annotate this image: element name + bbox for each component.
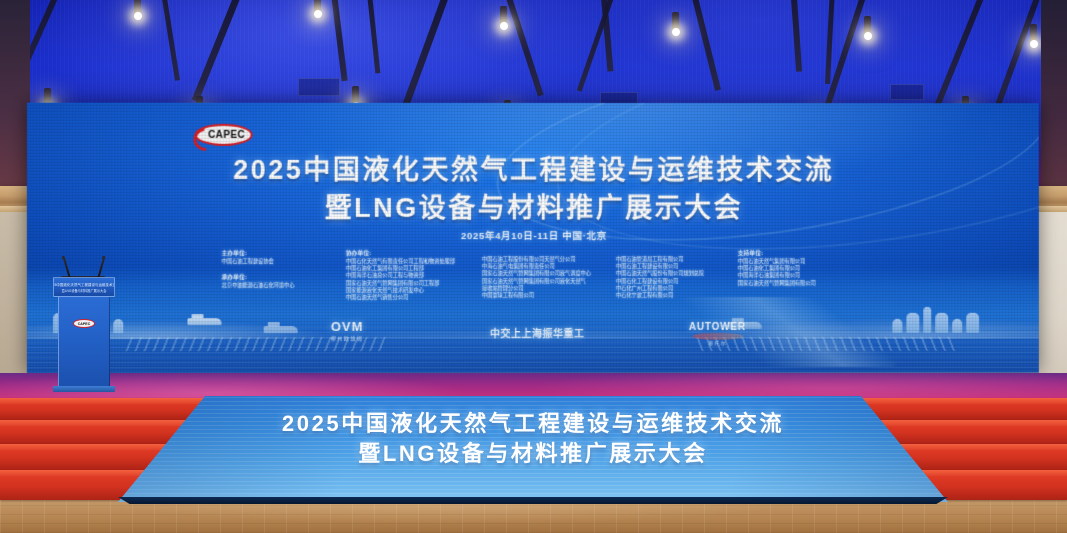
co-host-item: 中国海洋石油总公司工程与物资部 [346, 273, 466, 280]
capec-logo: CAPEC [194, 123, 254, 147]
podium-body: CAPEC [58, 297, 110, 389]
podium-banner-line2: 暨LNG设备与材料推广展示大会 [62, 288, 107, 293]
ovm-logo-subtext: 柳州欧维姆 [331, 335, 364, 342]
speaker-podium[interactable]: 2025中国液化天然气工程建设与运维技术交流 暨LNG设备与材料推广展示大会 C… [53, 277, 115, 389]
floor-title-line1: 2025中国液化天然气工程建设与运维技术交流 [118, 410, 948, 437]
undertaker-name: 北京中油能源石油石化环境中心 [222, 283, 330, 290]
capec-logo-oval: CAPEC [195, 124, 253, 146]
host-label: 主办单位: [222, 249, 330, 257]
spotlight [134, 0, 141, 16]
supporter-label: 支持单位: [738, 249, 846, 257]
organizer-item: 中石化广州工程有限公司 [616, 286, 722, 293]
organizer-item: 中国寰球工程有限公司 [482, 293, 600, 300]
spacer-head [616, 249, 722, 255]
podium-banner-line1: 2025中国液化天然气工程建设与运维技术交流 [53, 282, 115, 287]
organizer-column-4: 中国石油管道局工程有限公司 中国石油工程建设有限公司 中国石油天然气股份有限公司… [616, 249, 722, 325]
organizer-item: 国家石油天然气管网集团有限公司液化天然气 [482, 279, 600, 286]
sponsor-logo-row: OVM 柳州欧维姆 中交上上海振华重工 AUTOWER 奥托尔 [27, 319, 1039, 353]
floor-title-line2: 暨LNG设备与材料推广展示大会 [118, 440, 948, 467]
zhenhua-logo-text: 中交上上海振华重工 [490, 325, 584, 340]
organizer-column-supporters: 支持单位: 中国石油天然气集团有限公司 中国石油化工集团有限公司 中国海洋石油集… [738, 249, 846, 325]
step [852, 398, 1067, 420]
autower-logo-subtext: 奥托尔 [689, 340, 746, 347]
sponsor-logo-autower: AUTOWER 奥托尔 [689, 322, 746, 347]
organizer-item: 中石化宁波工程有限公司 [616, 293, 722, 300]
organizer-item: 接收站管理分公司 [482, 286, 600, 293]
supporter-item: 国家石油天然气管网集团有限公司 [738, 281, 846, 288]
autower-logo-text: AUTOWER [689, 322, 746, 333]
undertaker-label: 承办单位: [222, 273, 330, 281]
organizer-column-co-host: 协办单位: 中国石化天然气有限责任公司工程和物资处服部 中国石油化工集团有限公司… [346, 249, 466, 325]
spotlight [864, 16, 871, 36]
stage-floor-led-panel[interactable]: 2025中国液化天然气工程建设与运维技术交流 暨LNG设备与材料推广展示大会 [118, 396, 948, 502]
conference-stage-photo: CAPEC 2025中国液化天然气工程建设与运维技术交流 暨LNG设备与材料推广… [0, 0, 1067, 533]
ceiling-left-wall [0, 0, 30, 196]
spacer-head [482, 249, 600, 255]
stage-floor-front-edge [118, 497, 948, 504]
screen-title-block: 2025中国液化天然气工程建设与运维技术交流 暨LNG设备与材料推广展示大会 [27, 153, 1039, 225]
organizer-item: 中国石油天然气股份有限公司规划总院 [616, 271, 722, 278]
co-host-item: 国家石油天然气管网集团有限公司工程部 [346, 281, 466, 288]
autower-swoosh-icon [691, 333, 743, 340]
supporter-item: 中国海洋石油集团有限公司 [738, 273, 846, 280]
podium-banner: 2025中国液化天然气工程建设与运维技术交流 暨LNG设备与材料推广展示大会 [53, 277, 115, 297]
host-name: 中国石油工程建设协会 [222, 259, 330, 266]
co-host-item: 中国石油天然气销售分公司 [346, 295, 466, 302]
screen-title-line1: 2025中国液化天然气工程建设与运维技术交流 [27, 153, 1039, 187]
co-host-label: 协办单位: [346, 249, 466, 257]
spotlight [1030, 24, 1037, 44]
organizer-column-3: 中国石油工程股份有限公司天然气分公司 中海石油气电集团有限责任公司 国家石油天然… [482, 249, 600, 325]
spotlight [500, 6, 507, 26]
co-host-item: 国家能源液化天然气技术研发中心 [346, 288, 466, 295]
organizer-column-host: 主办单位: 中国石油工程建设协会 承办单位: 北京中油能源石油石化环境中心 [222, 249, 330, 325]
main-led-screen[interactable]: CAPEC 2025中国液化天然气工程建设与运维技术交流 暨LNG设备与材料推广… [27, 103, 1039, 374]
podium-capec-logo: CAPEC [73, 319, 95, 328]
organizer-item: 中国石化工程建设有限公司 [616, 279, 722, 286]
screen-title-line2: 暨LNG设备与材料推广展示大会 [27, 191, 1039, 225]
ceiling-right-wall [1041, 0, 1067, 196]
sponsor-logo-ovm: OVM 柳州欧维姆 [331, 319, 364, 342]
screen-date-location: 2025年4月10日-11日 中国·北京 [27, 228, 1039, 242]
organizer-item: 国家石油天然气管网集团有限公司液气调度中心 [482, 271, 600, 278]
ovm-logo-text: OVM [331, 319, 364, 334]
floor-title-block: 2025中国液化天然气工程建设与运维技术交流 暨LNG设备与材料推广展示大会 [118, 410, 948, 467]
step [0, 398, 210, 420]
organizer-columns: 主办单位: 中国石油工程建设协会 承办单位: 北京中油能源石油石化环境中心 协办… [27, 249, 1039, 325]
podium-base [53, 386, 115, 392]
spotlight [672, 12, 679, 32]
sponsor-logo-zhenhua: 中交上上海振华重工 [490, 325, 584, 340]
spotlight [314, 0, 321, 14]
ceiling-panel [890, 84, 924, 100]
ceiling-panel [298, 78, 340, 96]
capec-logo-text: CAPEC [202, 129, 245, 140]
